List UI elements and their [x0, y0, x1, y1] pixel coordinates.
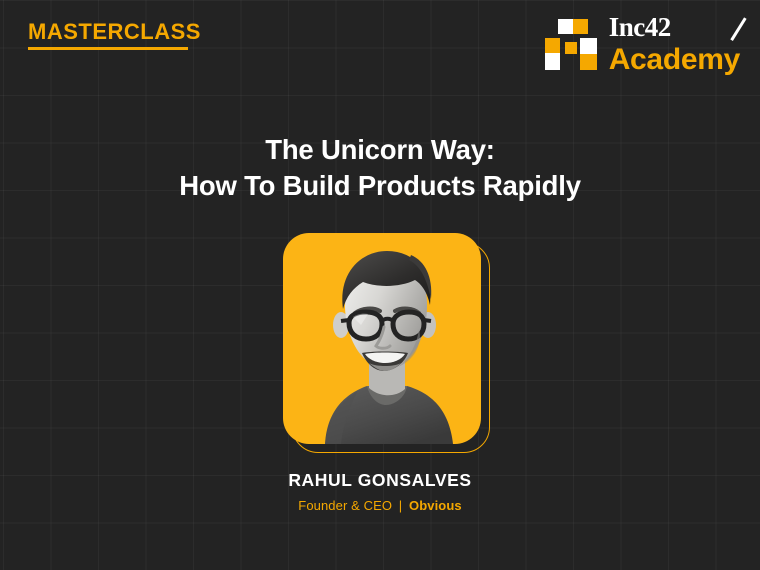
speaker-role-separator: |	[396, 498, 405, 513]
portrait-card	[283, 233, 481, 444]
masterclass-underline	[28, 47, 188, 50]
speaker-role-line: Founder & CEO | Obvious	[0, 498, 760, 513]
masterclass-badge: MASTERCLASS	[28, 20, 201, 50]
speaker-portrait-frame	[283, 233, 481, 444]
logo-slash-icon	[730, 17, 746, 40]
inc42-academy-logo: Inc42 Academy	[545, 14, 740, 75]
speaker-company: Obvious	[409, 498, 462, 513]
logo-brand-label: Inc42	[609, 12, 671, 42]
logo-brand-text: Inc42	[609, 14, 740, 41]
logo-subbrand-label: Academy	[609, 45, 740, 75]
logo-wordmark: Inc42 Academy	[609, 14, 740, 75]
speaker-info: RAHUL GONSALVES Founder & CEO | Obvious	[0, 470, 760, 513]
inc42-squares-logo-icon	[545, 19, 597, 71]
title-line-1: The Unicorn Way:	[0, 132, 760, 168]
masterclass-label: MASTERCLASS	[28, 20, 201, 44]
avatar	[283, 233, 481, 444]
speaker-name: RAHUL GONSALVES	[0, 470, 760, 491]
masterclass-poster: MASTERCLASS Inc42 Academy The Unico	[0, 0, 760, 570]
page-title: The Unicorn Way: How To Build Products R…	[0, 132, 760, 205]
speaker-role-title: Founder & CEO	[298, 498, 392, 513]
title-line-2: How To Build Products Rapidly	[0, 168, 760, 204]
